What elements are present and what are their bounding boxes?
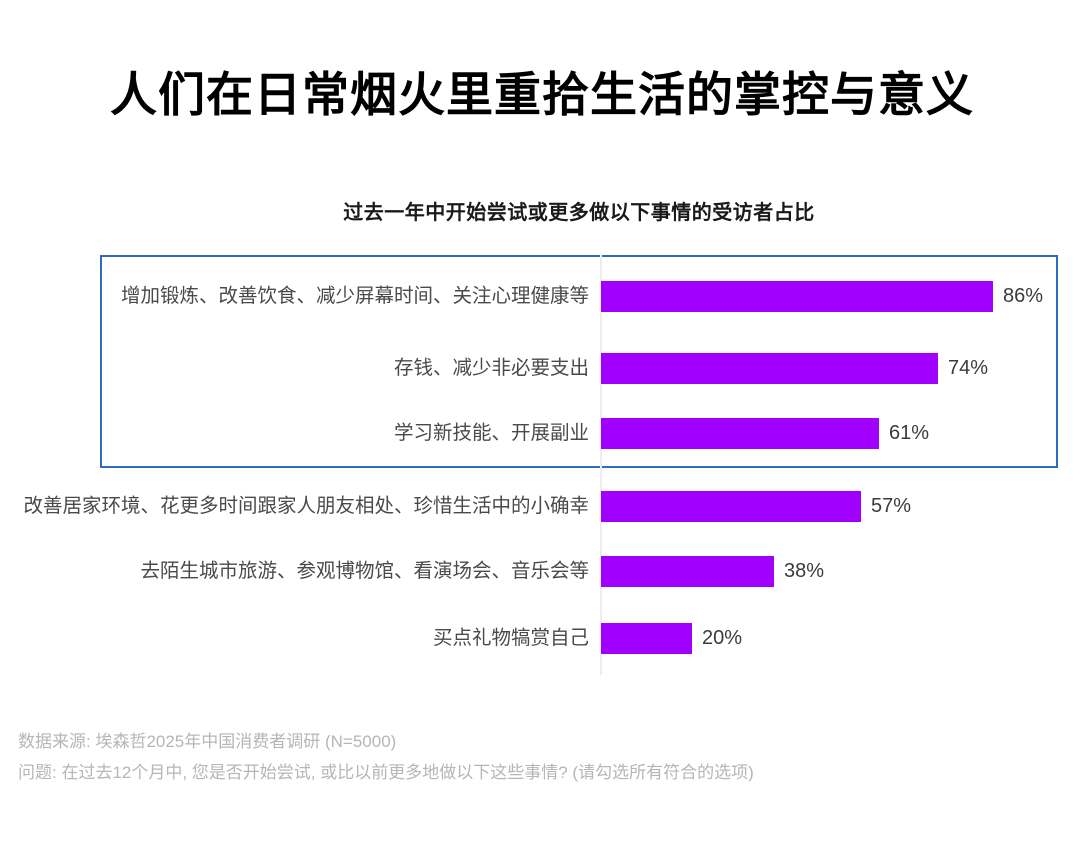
bar — [601, 623, 692, 654]
bar — [601, 353, 938, 384]
bar-value-label: 20% — [702, 623, 742, 654]
bar-chart-plot-area: 增加锻炼、改善饮食、减少屏幕时间、关注心理健康等86%存钱、减少非必要支出74%… — [0, 250, 1080, 680]
footnote-question: 问题: 在过去12个月中, 您是否开始尝试, 或比以前更多地做以下这些事情? (… — [18, 757, 1058, 788]
bar-value-label: 38% — [784, 556, 824, 587]
bar — [601, 491, 861, 522]
page-title: 人们在日常烟火里重拾生活的掌控与意义 — [110, 68, 980, 122]
bar — [601, 556, 774, 587]
bar-row: 改善居家环境、花更多时间跟家人朋友相处、珍惜生活中的小确幸57% — [0, 491, 1080, 522]
bar — [601, 281, 993, 312]
bar-category-label: 买点礼物犒赏自己 — [433, 623, 589, 654]
bar-category-label: 学习新技能、开展副业 — [394, 418, 589, 449]
bar-category-label: 存钱、减少非必要支出 — [394, 353, 589, 384]
bar-category-label: 去陌生城市旅游、参观博物馆、看演场会、音乐会等 — [140, 556, 589, 587]
bar-row: 学习新技能、开展副业61% — [0, 418, 1080, 449]
bar-category-label: 增加锻炼、改善饮食、减少屏幕时间、关注心理健康等 — [121, 281, 589, 312]
footnote-source: 数据来源: 埃森哲2025年中国消费者调研 (N=5000) — [18, 726, 1058, 757]
bar-row: 去陌生城市旅游、参观博物馆、看演场会、音乐会等38% — [0, 556, 1080, 587]
category-axis-line — [600, 255, 602, 675]
bar-value-label: 86% — [1003, 281, 1043, 312]
bar-row: 存钱、减少非必要支出74% — [0, 353, 1080, 384]
bar-value-label: 74% — [948, 353, 988, 384]
footnotes: 数据来源: 埃森哲2025年中国消费者调研 (N=5000) 问题: 在过去12… — [18, 726, 1058, 788]
bar-value-label: 61% — [889, 418, 929, 449]
bar-row: 增加锻炼、改善饮食、减少屏幕时间、关注心理健康等86% — [0, 281, 1080, 312]
bar — [601, 418, 879, 449]
bar-value-label: 57% — [871, 491, 911, 522]
bar-category-label: 改善居家环境、花更多时间跟家人朋友相处、珍惜生活中的小确幸 — [23, 491, 589, 522]
chart-subtitle: 过去一年中开始尝试或更多做以下事情的受访者占比 — [100, 196, 1058, 225]
bar-row: 买点礼物犒赏自己20% — [0, 623, 1080, 654]
